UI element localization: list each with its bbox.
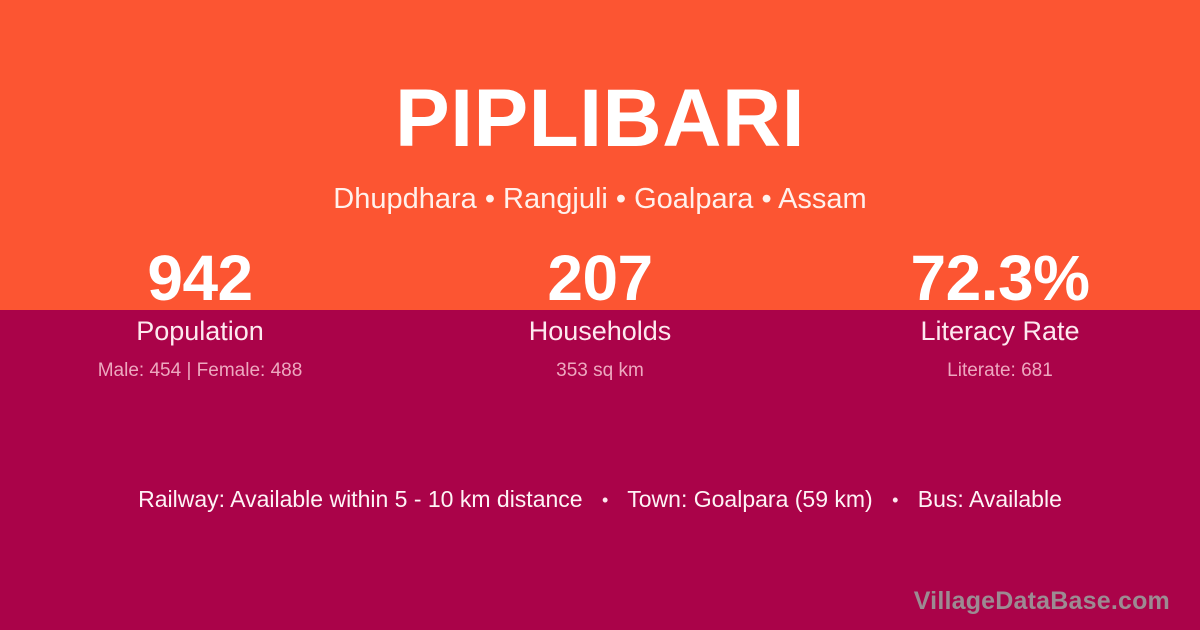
amenity-town: Town: Goalpara (59 km) bbox=[627, 486, 872, 512]
stat-sublabel: 353 sq km bbox=[400, 361, 800, 382]
stat-sublabel: Literate: 681 bbox=[800, 361, 1200, 382]
stat-value: 72.3% bbox=[800, 246, 1200, 311]
stats-row: 942 Population Male: 454 | Female: 488 2… bbox=[0, 246, 1200, 382]
site-watermark: VillageDataBase.com bbox=[914, 588, 1170, 616]
stat-label: Households bbox=[400, 317, 800, 347]
bullet-separator-icon: • bbox=[589, 490, 621, 512]
location-breadcrumb: Dhupdhara • Rangjuli • Goalpara • Assam bbox=[0, 182, 1200, 217]
bullet-separator-icon: • bbox=[879, 490, 911, 512]
stat-population: 942 Population Male: 454 | Female: 488 bbox=[0, 246, 400, 382]
stat-label: Literacy Rate bbox=[800, 317, 1200, 347]
stat-value: 207 bbox=[400, 246, 800, 311]
stat-label: Population bbox=[0, 317, 400, 347]
amenities-line: Railway: Available within 5 - 10 km dist… bbox=[0, 486, 1200, 514]
village-name-title: PIPLIBARI bbox=[0, 78, 1200, 160]
amenity-railway: Railway: Available within 5 - 10 km dist… bbox=[138, 486, 582, 512]
stat-value: 942 bbox=[0, 246, 400, 311]
amenity-bus: Bus: Available bbox=[918, 486, 1062, 512]
stat-sublabel: Male: 454 | Female: 488 bbox=[0, 361, 400, 382]
stat-literacy-rate: 72.3% Literacy Rate Literate: 681 bbox=[800, 246, 1200, 382]
stat-households: 207 Households 353 sq km bbox=[400, 246, 800, 382]
village-info-card: PIPLIBARI Dhupdhara • Rangjuli • Goalpar… bbox=[0, 0, 1200, 630]
card-content: PIPLIBARI Dhupdhara • Rangjuli • Goalpar… bbox=[0, 0, 1200, 630]
